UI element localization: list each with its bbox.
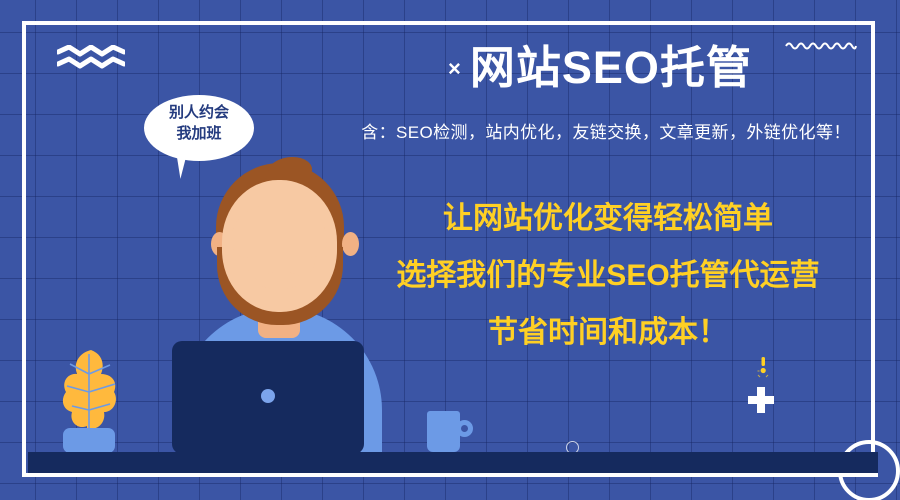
seo-hosting-banner: 别人约会 我加班 ×网站SEO托管 含：SEO检测，站内优化，友链交换，文章更新… — [0, 0, 900, 500]
x-mark-icon: × — [448, 56, 462, 81]
desk-surface — [28, 452, 878, 475]
slogan-line-1: 让网站优化变得轻松简单 — [332, 190, 884, 247]
speech-bubble-line-1: 别人约会 — [144, 102, 254, 123]
laptop-logo-icon — [261, 389, 275, 403]
person-mouth — [256, 272, 304, 289]
plant-leaf-icon — [60, 348, 122, 434]
slogan-line-2: 选择我们的专业SEO托管代运营 — [332, 247, 884, 304]
banner-title: ×网站SEO托管 — [330, 42, 870, 94]
person-forehead — [231, 206, 327, 258]
plant-pot — [63, 428, 115, 453]
slogan-line-3: 节省时间和成本！ — [332, 304, 884, 361]
desk-edge-line — [28, 473, 878, 477]
banner-slogan: 让网站优化变得轻松简单 选择我们的专业SEO托管代运营 节省时间和成本！ — [332, 190, 884, 361]
banner-subtitle: 含：SEO检测，站内优化，友链交换，文章更新，外链优化等！ — [330, 118, 882, 143]
coffee-mug — [427, 411, 460, 452]
speech-bubble-line-2: 我加班 — [144, 123, 254, 144]
coffee-mug-handle — [456, 420, 473, 437]
banner-title-text: 网站SEO托管 — [470, 42, 752, 93]
speech-bubble-text: 别人约会 我加班 — [144, 102, 254, 145]
